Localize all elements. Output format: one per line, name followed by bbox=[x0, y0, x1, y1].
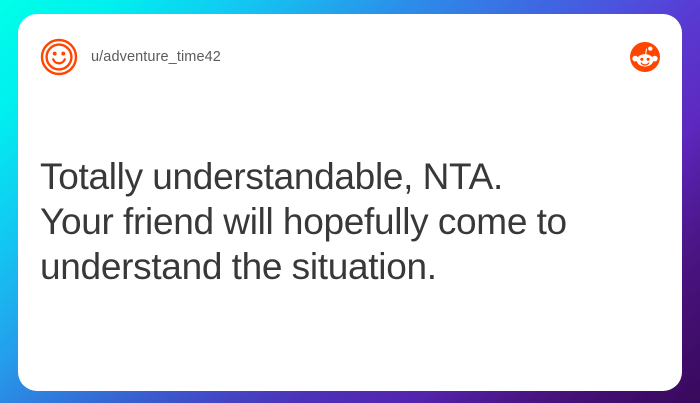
reddit-snoo-icon[interactable] bbox=[630, 42, 660, 72]
username-label: u/adventure_time42 bbox=[91, 49, 221, 65]
card-header: u/adventure_time42 bbox=[18, 14, 682, 100]
reddit-comment-card-screenshot: u/adventure_time42 bbox=[0, 0, 700, 403]
comment-card: u/adventure_time42 bbox=[18, 14, 682, 391]
card-body: Totally understandable, NTA. Your friend… bbox=[40, 154, 660, 289]
comment-text: Totally understandable, NTA. Your friend… bbox=[40, 154, 585, 289]
smiley-face-icon bbox=[40, 38, 78, 76]
